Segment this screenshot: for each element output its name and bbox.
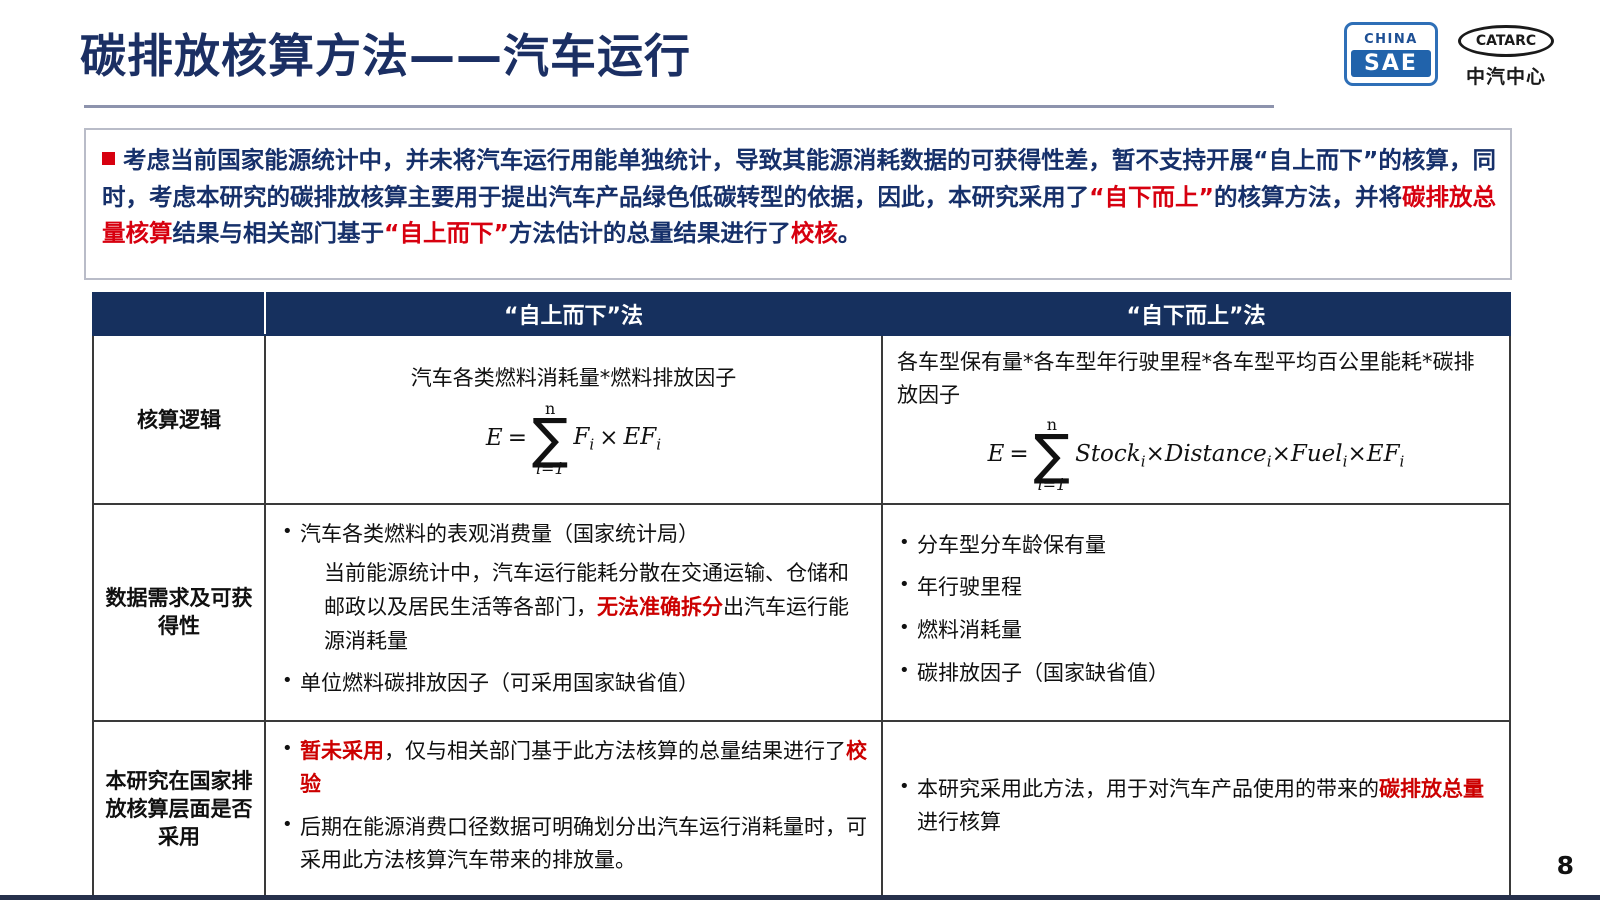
red-square-bullet-icon xyxy=(102,152,115,165)
logo-area: CHINA SAE CATARC 中汽中心 xyxy=(1344,22,1554,89)
table-row-accounting-logic: 核算逻辑 汽车各类燃料消耗量*燃料排放因子 E = n ∑ i=1 Fi × E… xyxy=(93,335,1510,504)
bottomup-formula-terms: Stocki×Distancei×Fueli×EFi xyxy=(1075,437,1404,474)
table-header-row: “自上而下”法 “自下而上”法 xyxy=(93,293,1510,335)
bottomup-adoption-bullet-list: 本研究采用此方法，用于对汽车产品使用的带来的碳排放总量进行核算 xyxy=(897,773,1495,840)
bottomup-data-bullet-list: 分车型分车龄保有量年行驶里程燃料消耗量碳排放因子（国家缺省值） xyxy=(897,529,1495,690)
page-number: 8 xyxy=(1557,851,1574,880)
topdown-adoption-segment-1-0: 后期在能源消费口径数据可明确划分出汽车运行消耗量时，可采用此方法核算汽车带来的排… xyxy=(300,815,867,873)
bullet-main-text-1: 单位燃料碳排放因子（可采用国家缺省值） xyxy=(300,671,699,695)
topdown-adoption-segment-0-0: 暂未采用 xyxy=(300,739,384,763)
callout-segment-8: 。 xyxy=(838,219,862,247)
topdown-term-ef-name: EF xyxy=(623,424,656,450)
topdown-formula-equals: = xyxy=(508,421,527,457)
callout-segment-2: 的核算方法，并将 xyxy=(1214,183,1402,211)
bottomup-sigma-lower-limit: i=1 xyxy=(1038,477,1067,493)
table-header-topdown: “自上而下”法 xyxy=(265,293,882,335)
topdown-logic-text: 汽车各类燃料消耗量*燃料排放因子 xyxy=(280,362,867,395)
bottomup-formula-term-1: Distancei xyxy=(1165,441,1272,467)
topdown-sigma-lower-limit: i=1 xyxy=(536,461,565,477)
topdown-formula-term-ef: EFi xyxy=(623,420,661,457)
table-header-label-cell xyxy=(93,293,265,335)
row-label-data-requirements: 数据需求及可获得性 xyxy=(93,504,265,720)
bullet-text-3: 碳排放因子（国家缺省值） xyxy=(917,661,1169,685)
list-item: 碳排放因子（国家缺省值） xyxy=(897,657,1495,691)
bottomup-term-subscript-3: i xyxy=(1400,452,1405,470)
bottomup-formula: E = n ∑ i=1 Stocki×Distancei×Fueli×EFi xyxy=(897,417,1495,493)
list-item: 年行驶里程 xyxy=(897,571,1495,605)
list-item: 本研究采用此方法，用于对汽车产品使用的带来的碳排放总量进行核算 xyxy=(897,773,1495,840)
row-label-accounting-logic: 核算逻辑 xyxy=(93,335,265,504)
catarc-logo-acronym: CATARC xyxy=(1458,25,1554,57)
bullet-text-1: 年行驶里程 xyxy=(917,575,1022,599)
bottomup-formula-multiply-3: × xyxy=(1348,441,1367,467)
title-underline-rule xyxy=(84,105,1274,108)
bottomup-adoption-segment-0-2: 进行核算 xyxy=(917,810,1001,834)
bottomup-logic-text: 各车型保有量*各车型年行驶里程*各车型平均百公里能耗*碳排放因子 xyxy=(897,346,1495,411)
china-sae-logo: CHINA SAE xyxy=(1344,22,1438,86)
bottomup-term-name-0: Stock xyxy=(1075,441,1141,467)
summary-callout-rich-text: 考虑当前国家能源统计中，并未将汽车运行用能单独统计，导致其能源消耗数据的可获得性… xyxy=(102,146,1496,247)
catarc-logo: CATARC 中汽中心 xyxy=(1458,22,1554,89)
callout-segment-6: 方法估计的总量结果进行了 xyxy=(509,219,791,247)
bottomup-formula-equals: = xyxy=(1009,437,1028,473)
bottomup-term-name-2: Fuel xyxy=(1291,441,1343,467)
bottomup-term-name-3: EF xyxy=(1367,441,1400,467)
topdown-formula-term-f: Fi xyxy=(573,420,594,457)
bullet-main-text-0: 汽车各类燃料的表观消费量（国家统计局） xyxy=(300,522,699,546)
callout-segment-1: “自下而上” xyxy=(1089,183,1214,211)
slide-canvas: 碳排放核算方法——汽车运行 CHINA SAE CATARC 中汽中心 考虑当前… xyxy=(0,0,1600,900)
bottomup-formula-multiply-2: × xyxy=(1272,441,1291,467)
row-label-adoption: 本研究在国家排放核算层面是否采用 xyxy=(93,721,265,898)
topdown-formula-lhs: E xyxy=(486,421,503,457)
table-row-data-requirements: 数据需求及可获得性 汽车各类燃料的表观消费量（国家统计局）当前能源统计中，汽车运… xyxy=(93,504,1510,720)
catarc-logo-chinese-name: 中汽中心 xyxy=(1466,62,1546,89)
topdown-adoption-bullet-list: 暂未采用，仅与相关部门基于此方法核算的总量结果进行了校验后期在能源消费口径数据可… xyxy=(280,735,867,878)
bottomup-adoption-segment-0-0: 本研究采用此方法，用于对汽车产品使用的带来的 xyxy=(917,777,1379,801)
bottomup-term-name-1: Distance xyxy=(1165,441,1267,467)
list-item: 分车型分车龄保有量 xyxy=(897,529,1495,563)
table-header-bottomup: “自下而上”法 xyxy=(882,293,1510,335)
topdown-data-bullet-list: 汽车各类燃料的表观消费量（国家统计局）当前能源统计中，汽车运行能耗分散在交通运输… xyxy=(280,518,867,700)
cell-topdown-accounting-logic: 汽车各类燃料消耗量*燃料排放因子 E = n ∑ i=1 Fi × EFi xyxy=(265,335,882,504)
cell-bottomup-data-requirements: 分车型分车龄保有量年行驶里程燃料消耗量碳排放因子（国家缺省值） xyxy=(882,504,1510,720)
sigma-glyph-icon: ∑ xyxy=(532,417,568,461)
bullet-sub-text-0: 当前能源统计中，汽车运行能耗分散在交通运输、仓储和邮政以及居民生活等各部门，无法… xyxy=(300,556,867,658)
bottomup-adoption-segment-0-1: 碳排放总量 xyxy=(1379,777,1484,801)
bottomup-summation-symbol: n ∑ i=1 xyxy=(1034,417,1070,493)
topdown-term-f-subscript: i xyxy=(589,436,594,454)
bottomup-formula-term-0: Stocki xyxy=(1075,441,1146,467)
topdown-adoption-segment-0-1: ，仅与相关部门基于此方法核算的总量结果进行了 xyxy=(384,739,846,763)
china-sae-logo-bottom-text: SAE xyxy=(1351,50,1431,78)
callout-segment-7: 校核 xyxy=(791,219,838,247)
list-item: 汽车各类燃料的表观消费量（国家统计局）当前能源统计中，汽车运行能耗分散在交通运输… xyxy=(280,518,867,658)
list-item: 暂未采用，仅与相关部门基于此方法核算的总量结果进行了校验 xyxy=(280,735,867,802)
list-item: 后期在能源消费口径数据可明确划分出汽车运行消耗量时，可采用此方法核算汽车带来的排… xyxy=(280,811,867,878)
bullet-text-0: 分车型分车龄保有量 xyxy=(917,533,1106,557)
footer-rule xyxy=(0,895,1600,900)
summary-callout-box: 考虑当前国家能源统计中，并未将汽车运行用能单独统计，导致其能源消耗数据的可获得性… xyxy=(84,128,1512,280)
callout-segment-4: 结果与相关部门基于 xyxy=(173,219,385,247)
sigma-glyph-icon: ∑ xyxy=(1034,433,1070,477)
list-item: 单位燃料碳排放因子（可采用国家缺省值） xyxy=(280,667,867,701)
page-title: 碳排放核算方法——汽车运行 xyxy=(80,30,780,83)
bottomup-formula-multiply-1: × xyxy=(1146,441,1165,467)
cell-topdown-adoption: 暂未采用，仅与相关部门基于此方法核算的总量结果进行了校验后期在能源消费口径数据可… xyxy=(265,721,882,898)
bullet-sub-segment-0-1: 无法准确拆分 xyxy=(597,595,723,619)
cell-bottomup-accounting-logic: 各车型保有量*各车型年行驶里程*各车型平均百公里能耗*碳排放因子 E = n ∑… xyxy=(882,335,1510,504)
topdown-formula-multiply: × xyxy=(599,421,618,457)
topdown-formula: E = n ∑ i=1 Fi × EFi xyxy=(280,401,867,477)
china-sae-logo-top-text: CHINA xyxy=(1351,31,1431,48)
topdown-term-ef-subscript: i xyxy=(656,436,661,454)
list-item: 燃料消耗量 xyxy=(897,614,1495,648)
topdown-term-f-name: F xyxy=(573,424,589,450)
cell-bottomup-adoption: 本研究采用此方法，用于对汽车产品使用的带来的碳排放总量进行核算 xyxy=(882,721,1510,898)
cell-topdown-data-requirements: 汽车各类燃料的表观消费量（国家统计局）当前能源统计中，汽车运行能耗分散在交通运输… xyxy=(265,504,882,720)
topdown-summation-symbol: n ∑ i=1 xyxy=(532,401,568,477)
bullet-text-2: 燃料消耗量 xyxy=(917,618,1022,642)
bottomup-formula-lhs: E xyxy=(988,437,1005,473)
comparison-table: “自上而下”法 “自下而上”法 核算逻辑 汽车各类燃料消耗量*燃料排放因子 E … xyxy=(92,292,1511,899)
bottomup-formula-term-2: Fueli xyxy=(1291,441,1348,467)
callout-segment-5: “自上而下” xyxy=(384,219,509,247)
bottomup-formula-term-3: EFi xyxy=(1367,441,1405,467)
table-row-adoption: 本研究在国家排放核算层面是否采用 暂未采用，仅与相关部门基于此方法核算的总量结果… xyxy=(93,721,1510,898)
summary-callout-text: 考虑当前国家能源统计中，并未将汽车运行用能单独统计，导致其能源消耗数据的可获得性… xyxy=(102,142,1496,252)
title-block: 碳排放核算方法——汽车运行 xyxy=(80,30,780,83)
